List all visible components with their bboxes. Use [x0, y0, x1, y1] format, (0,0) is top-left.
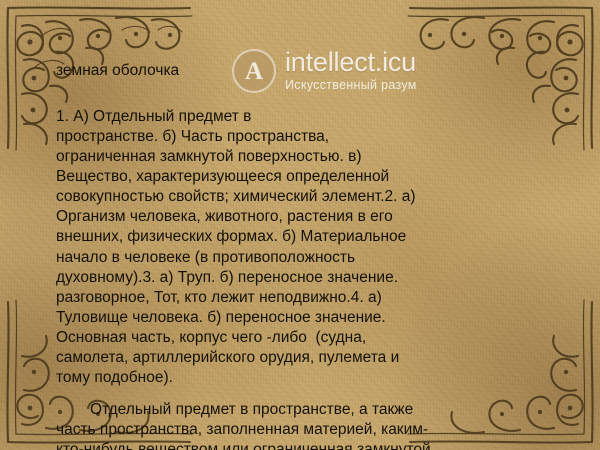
document-text-block: земная оболочка 1. А) Отдельный предмет …: [56, 62, 552, 389]
document-tail-text: Отдельный предмет в пространстве, а такж…: [56, 401, 431, 450]
scanned-page: A intellect.icu Искусственный разум земн…: [0, 0, 600, 450]
document-tail-paragraph: Отдельный предмет в пространстве, а такж…: [56, 400, 556, 450]
page-heading: земная оболочка: [56, 62, 552, 81]
document-body: 1. А) Отдельный предмет в пространстве. …: [56, 107, 552, 389]
